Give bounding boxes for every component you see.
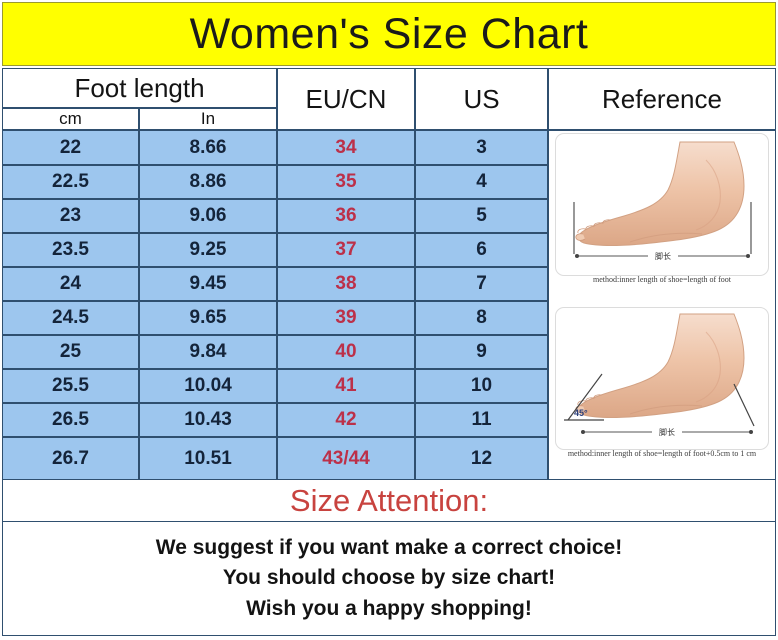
cell-cm: 23.5 [2, 233, 139, 267]
cell-in: 10.04 [139, 369, 277, 403]
svg-text:脚长: 脚长 [659, 427, 675, 437]
cell-eu: 43/44 [277, 437, 415, 480]
cell-us: 9 [415, 335, 548, 369]
cell-cm: 23 [2, 199, 139, 233]
cell-in: 9.84 [139, 335, 277, 369]
cell-cm: 22.5 [2, 165, 139, 199]
cell-eu: 36 [277, 199, 415, 233]
cell-us: 10 [415, 369, 548, 403]
svg-text:脚长: 脚长 [655, 251, 671, 261]
cell-eu: 38 [277, 267, 415, 301]
cell-in: 9.25 [139, 233, 277, 267]
cell-cm: 25.5 [2, 369, 139, 403]
cell-eu: 35 [277, 165, 415, 199]
cell-cm: 24 [2, 267, 139, 301]
cell-eu: 40 [277, 335, 415, 369]
cell-us: 3 [415, 130, 548, 165]
cell-cm: 26.5 [2, 403, 139, 437]
cell-in: 8.66 [139, 130, 277, 165]
chart-title-banner: Women's Size Chart [2, 2, 776, 66]
attention-notes: We suggest if you want make a correct ch… [2, 522, 776, 636]
cell-us: 5 [415, 199, 548, 233]
header-foot-length: Foot length [2, 68, 277, 108]
size-attention-heading: Size Attention: [290, 483, 488, 519]
reference-diagram-2: 45° 脚长 method:inner length of shoe=lengt… [549, 305, 775, 479]
cell-in: 9.06 [139, 199, 277, 233]
chart-title: Women's Size Chart [190, 13, 589, 56]
note-line: We suggest if you want make a correct ch… [156, 536, 622, 560]
cell-in: 8.86 [139, 165, 277, 199]
cell-us: 6 [415, 233, 548, 267]
header-reference: Reference [548, 68, 776, 130]
header-cm: cm [2, 108, 139, 130]
cell-cm: 22 [2, 130, 139, 165]
size-chart-image: Women's Size Chart Foot length EU/CN US … [0, 0, 778, 640]
cell-us: 11 [415, 403, 548, 437]
note-line: Wish you a happy shopping! [246, 597, 532, 621]
cell-in: 10.43 [139, 403, 277, 437]
foot-side-view-angled-icon: 45° 脚长 [555, 307, 769, 450]
reference-diagram-1: 脚长 method:inner length of shoe=length of… [549, 131, 775, 305]
cell-us: 4 [415, 165, 548, 199]
reference-caption-1: method:inner length of shoe=length of fo… [549, 276, 775, 285]
reference-column: 脚长 method:inner length of shoe=length of… [548, 130, 776, 480]
cell-in: 10.51 [139, 437, 277, 480]
cell-eu: 37 [277, 233, 415, 267]
header-eu-cn: EU/CN [277, 68, 415, 130]
size-attention-row: Size Attention: [2, 480, 776, 522]
cell-us: 7 [415, 267, 548, 301]
svg-text:45°: 45° [574, 408, 588, 418]
cell-eu: 42 [277, 403, 415, 437]
cell-us: 8 [415, 301, 548, 335]
note-line: You should choose by size chart! [223, 566, 555, 590]
cell-in: 9.45 [139, 267, 277, 301]
cell-in: 9.65 [139, 301, 277, 335]
cell-cm: 26.7 [2, 437, 139, 480]
foot-side-view-icon: 脚长 [555, 133, 769, 276]
reference-caption-2: method:inner length of shoe=length of fo… [549, 450, 775, 459]
cell-eu: 39 [277, 301, 415, 335]
cell-cm: 25 [2, 335, 139, 369]
cell-eu: 34 [277, 130, 415, 165]
header-in: In [139, 108, 277, 130]
size-table: Foot length EU/CN US Reference cm In 22 … [2, 68, 776, 480]
cell-eu: 41 [277, 369, 415, 403]
header-us: US [415, 68, 548, 130]
cell-cm: 24.5 [2, 301, 139, 335]
cell-us: 12 [415, 437, 548, 480]
